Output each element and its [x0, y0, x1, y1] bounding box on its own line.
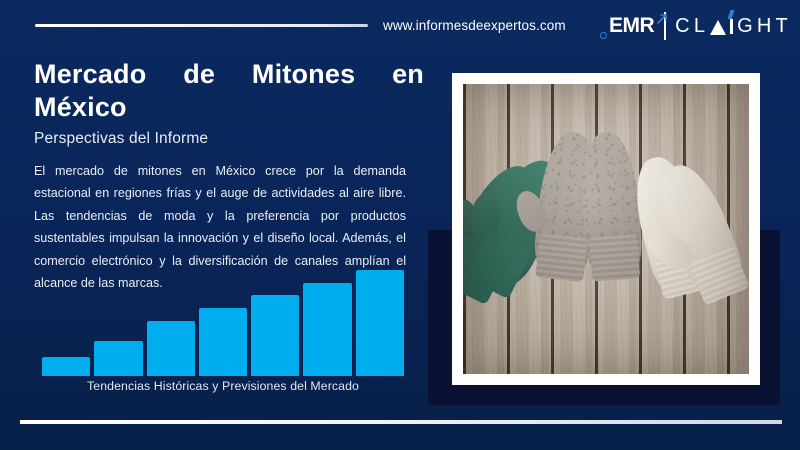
chart-bar	[356, 270, 404, 376]
logo-emr-text: EMR	[609, 14, 654, 37]
chart-caption: Tendencias Históricas y Previsiones del …	[42, 379, 404, 393]
mittens-photo	[463, 84, 749, 374]
brand-logo[interactable]: EMR CL GHT	[600, 10, 792, 42]
photo-frame	[452, 73, 760, 385]
slide-canvas: www.informesdeexpertos.com EMR CL GHT Me…	[0, 0, 800, 450]
page-title: Mercado de Mitones en México	[34, 58, 424, 124]
chart-bar	[42, 357, 90, 376]
chart-bar	[147, 321, 195, 376]
triangle-a-icon	[710, 20, 726, 35]
header-divider-rule	[35, 24, 368, 27]
chart-bar	[199, 308, 247, 376]
chart-bar	[94, 341, 142, 376]
circle-outline-icon	[600, 32, 607, 39]
arrow-up-right-icon	[656, 13, 668, 25]
market-trends-bar-chart	[42, 270, 404, 376]
chart-bar	[303, 283, 351, 376]
footer-divider-rule	[20, 420, 782, 424]
logo-claight-text: CL GHT	[675, 15, 792, 38]
letter-i-accent-icon	[730, 19, 733, 34]
photo-lighting-overlay	[463, 84, 749, 374]
logo-claight-post: GHT	[737, 15, 792, 38]
logo-claight-pre: CL	[675, 15, 709, 38]
chart-bar	[251, 295, 299, 376]
section-subtitle: Perspectivas del Informe	[34, 130, 208, 148]
site-url-text: www.informesdeexpertos.com	[383, 18, 566, 33]
